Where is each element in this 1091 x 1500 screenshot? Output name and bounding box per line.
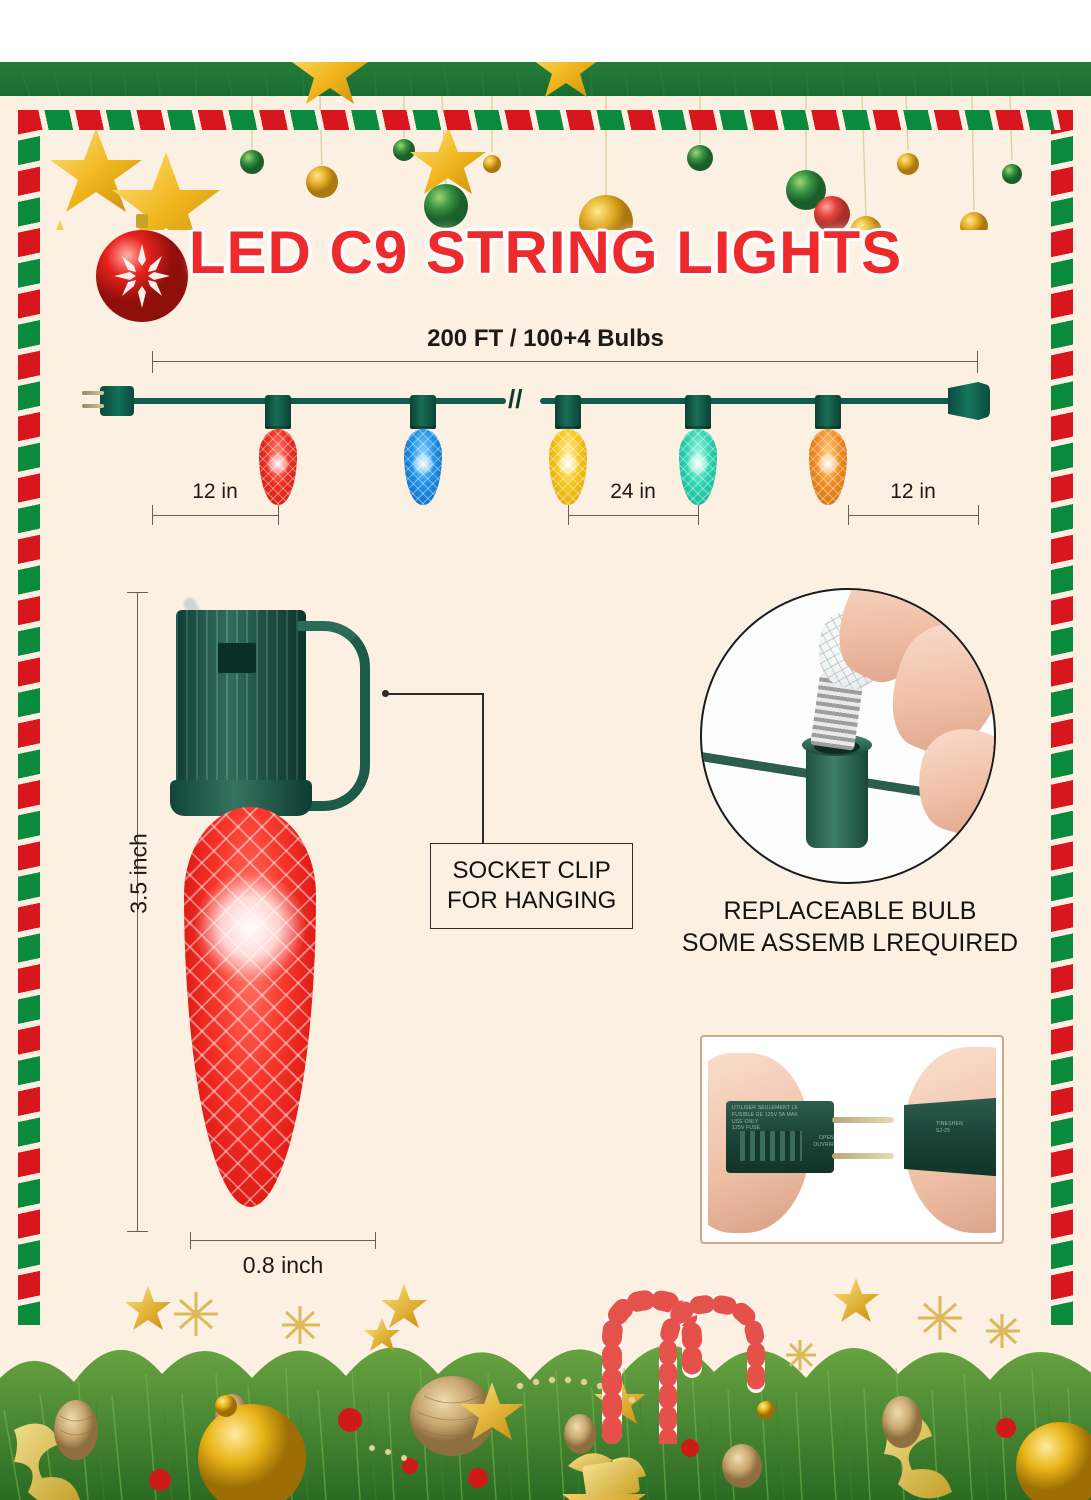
bulb-glass-orange <box>809 429 847 505</box>
plug-prong-lower <box>832 1153 894 1159</box>
width-label: 0.8 inch <box>190 1252 376 1279</box>
plug-prong-bottom <box>82 404 104 408</box>
spacing-tick-1a <box>152 505 153 525</box>
plug-label-fuse-text: UTILISER SEULEMENT LE FUSIBLE DE 125V 5A… <box>732 1105 824 1132</box>
female-socket-icon <box>948 382 990 420</box>
border-top-candy-stripe <box>18 110 1073 130</box>
replaceable-bulb-caption: REPLACEABLE BULB SOME ASSEMB LREQUIRED <box>660 895 1040 959</box>
snow-cap <box>0 0 1091 62</box>
callout-leader-vertical <box>482 693 484 845</box>
plug-label-open-text: OPEN OUVRIR <box>800 1135 834 1149</box>
spacing-tick-3a <box>848 505 849 525</box>
plug-ridges <box>740 1131 802 1161</box>
bulb-socket <box>555 395 581 429</box>
total-length-label: 200 FT / 100+4 Bulbs <box>0 325 1091 353</box>
spacing-line-3 <box>848 515 978 516</box>
spacing-label-2: 24 in <box>568 480 698 504</box>
socket-ribs <box>176 610 306 790</box>
socket-clip-callout-box: SOCKET CLIP FOR HANGING <box>430 843 633 929</box>
spacing-tick-2b <box>698 505 699 525</box>
bulb-socket <box>685 395 711 429</box>
bulb-glass-red-large <box>184 807 316 1207</box>
height-dim-cap-top <box>127 592 148 593</box>
total-dim-tick-right <box>977 351 978 373</box>
plug-female-connector <box>904 1097 996 1177</box>
callout-leader-horizontal <box>385 693 483 695</box>
photo-socket <box>806 740 868 848</box>
socket-slot <box>218 643 256 673</box>
plug-photo-inner: UTILISER SEULEMENT LE FUSIBLE DE 125V 5A… <box>708 1043 996 1236</box>
product-bulb-closeup <box>150 575 390 1235</box>
replaceable-bulb-photo <box>700 588 996 884</box>
spacing-label-1: 12 in <box>152 480 278 504</box>
candy-cane-icon <box>556 1244 796 1444</box>
spacing-tick-1b <box>278 505 279 525</box>
page-title: LED C9 STRING LIGHTS <box>0 218 1091 287</box>
bulb-blue <box>403 395 443 505</box>
plug-prong-upper <box>832 1117 894 1123</box>
wire-left-segment <box>116 398 506 404</box>
width-dim-cap-right <box>375 1232 376 1249</box>
bulb-glass-blue <box>404 429 442 505</box>
border-right-candy-stripe <box>1051 110 1073 1325</box>
male-plug-icon <box>100 386 134 416</box>
plug-label-brand-text: TINESHEN SJ-25 <box>936 1121 992 1135</box>
string-light-diagram: 200 FT / 100+4 Bulbs // <box>0 325 1091 525</box>
bottom-garland-svg <box>0 1270 1091 1500</box>
height-dim-cap-bottom <box>127 1231 148 1232</box>
spacing-line-1 <box>152 515 278 516</box>
wire-right-segment <box>540 398 950 404</box>
total-dim-line <box>152 361 977 362</box>
spacing-label-3: 12 in <box>848 480 978 504</box>
bottom-garland <box>0 1270 1091 1500</box>
border-left-candy-stripe <box>18 110 40 1325</box>
bulb-socket <box>265 395 291 429</box>
plug-prong-top <box>82 391 104 395</box>
bulb-orange <box>808 395 848 505</box>
bulb-socket <box>815 395 841 429</box>
plug-connector-photo: UTILISER SEULEMENT LE FUSIBLE DE 125V 5A… <box>700 1035 1004 1244</box>
spacing-tick-2a <box>568 505 569 525</box>
spacing-line-2 <box>568 515 698 516</box>
bulb-socket <box>410 395 436 429</box>
width-dim-cap-left <box>190 1232 191 1249</box>
spacing-tick-3b <box>978 505 979 525</box>
infographic-canvas: LED C9 STRING LIGHTS 200 FT / 100+4 Bulb… <box>0 0 1091 1500</box>
width-dim-line <box>190 1240 376 1241</box>
break-mark: // <box>508 386 522 412</box>
total-dim-tick-left <box>152 351 153 373</box>
height-label: 3.5 inch <box>126 819 153 929</box>
